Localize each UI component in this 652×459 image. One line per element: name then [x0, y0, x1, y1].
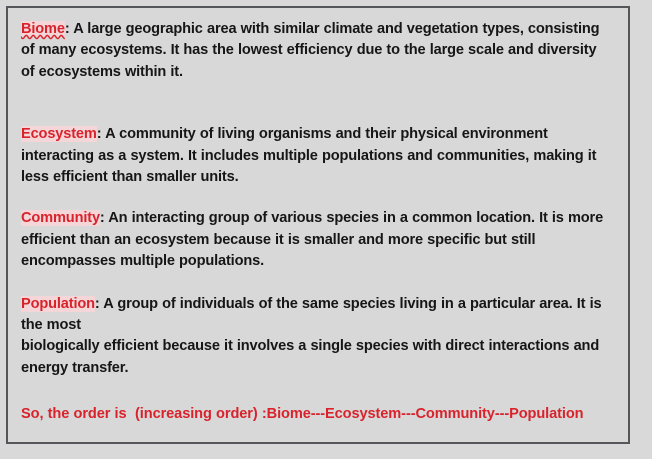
slide-canvas: Biome: A large geographic area with simi… — [0, 0, 652, 459]
term-biome: Biome — [21, 21, 65, 37]
definition-paragraph-biome: Biome: A large geographic area with simi… — [21, 19, 614, 83]
definition-body-biome: A large geographic area with similar cli… — [21, 21, 599, 80]
term-community: Community — [21, 210, 100, 226]
definition-paragraph-community: Community: An interacting group of vario… — [21, 208, 614, 272]
definitions-text-box: Biome: A large geographic area with simi… — [6, 6, 630, 444]
definition-body-ecosystem: A community of living organisms and thei… — [21, 126, 596, 185]
term-ecosystem: Ecosystem — [21, 126, 97, 142]
term-separator-ecosystem: : — [97, 126, 105, 142]
definition-body-population-line-2: biologically efficient because it involv… — [21, 338, 599, 375]
conclusion-order-line: So, the order is (increasing order) :Bio… — [21, 404, 614, 425]
term-population: Population — [21, 296, 95, 312]
definition-paragraph-ecosystem: Ecosystem: A community of living organis… — [21, 124, 614, 188]
term-separator-biome: : — [65, 21, 73, 37]
definition-paragraph-population: Population: A group of individuals of th… — [21, 294, 614, 380]
definition-body-population-line-1: A group of individuals of the same speci… — [21, 296, 601, 333]
definition-body-community: An interacting group of various species … — [21, 210, 603, 269]
